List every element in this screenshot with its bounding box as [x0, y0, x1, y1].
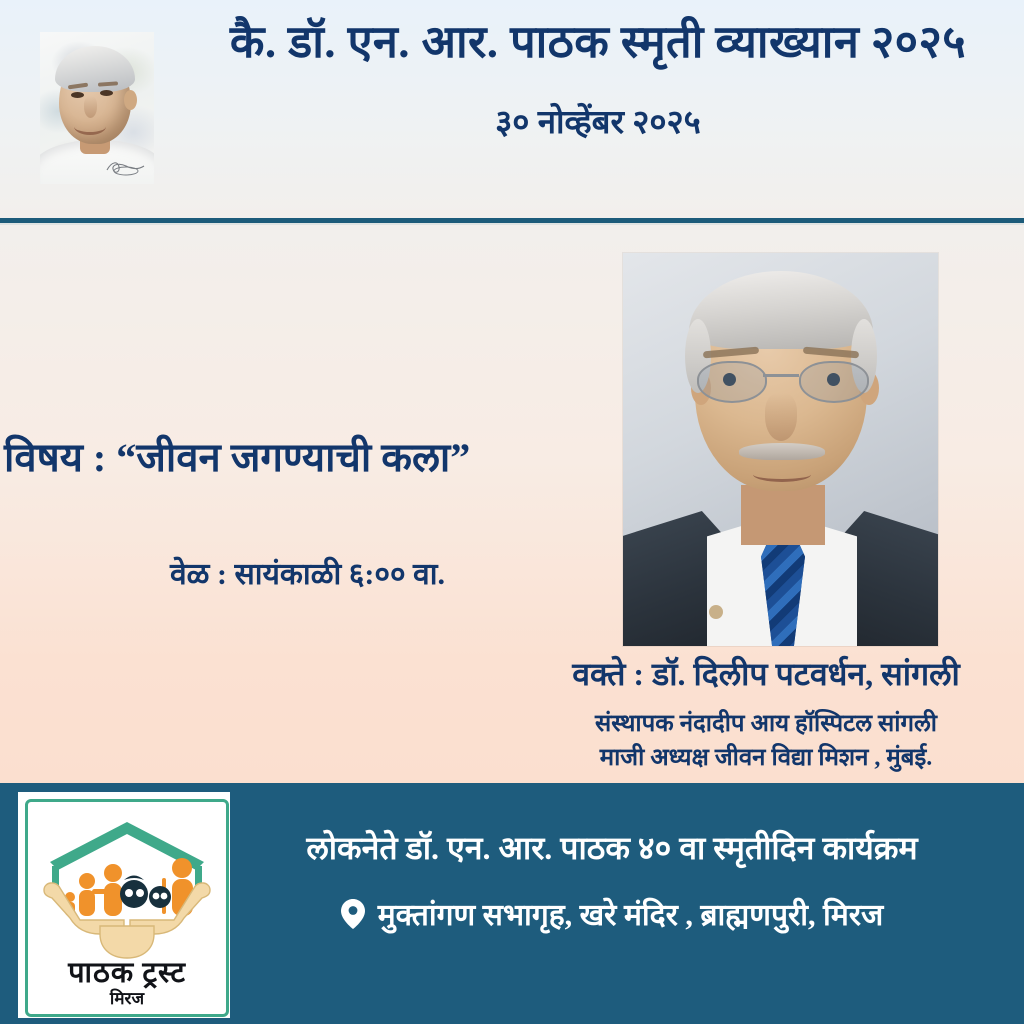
speaker-moustache — [739, 443, 825, 460]
trust-logo-frame: पाठक ट्रस्ट मिरज — [25, 799, 229, 1017]
portrait-eye-right — [100, 90, 113, 96]
poster-header: कै. डॉ. एन. आर. पाठक स्मृती व्याख्यान २०… — [0, 0, 1024, 218]
cupped-hands-icon — [40, 876, 214, 960]
artist-signature-icon — [104, 157, 148, 177]
lecture-time: वेळ : सायंकाळी ६:०० वा. — [0, 552, 615, 593]
lecture-subject: विषय : “जीवन जगण्याची कला” — [0, 428, 615, 483]
header-title-group: कै. डॉ. एन. आर. पाठक स्मृती व्याख्यान २०… — [172, 0, 1024, 218]
eyeglass-bridge — [763, 374, 799, 377]
poster-date: ३० नोव्हेंबर २०२५ — [495, 104, 701, 144]
trust-logo: पाठक ट्रस्ट मिरज — [18, 792, 230, 1018]
portrait-nose — [84, 96, 97, 118]
speaker-nose — [765, 393, 797, 441]
trust-logo-place: मिरज — [28, 986, 226, 1009]
venue-row: मुक्तांगण सभागृह, खरे मंदिर , ब्राह्मणपु… — [232, 893, 992, 934]
portrait-ear — [124, 90, 137, 110]
eyeglass-lens-left — [697, 361, 767, 403]
event-title: लोकनेते डॉ. एन. आर. पाठक ४० वा स्मृतीदिन… — [232, 826, 992, 869]
speaker-credential-2: माजी अध्यक्ष जीवन विद्या मिशन , मुंबई. — [508, 740, 1024, 773]
eyeglass-lens-right — [799, 361, 869, 403]
speaker-mouth — [753, 467, 811, 482]
speaker-credential-1: संस्थापक नंदादीप आय हॉस्पिटल सांगली — [508, 706, 1024, 739]
poster-root: कै. डॉ. एन. आर. पाठक स्मृती व्याख्यान २०… — [0, 0, 1024, 1024]
poster-title: कै. डॉ. एन. आर. पाठक स्मृती व्याख्यान २०… — [230, 14, 966, 70]
venue-text: मुक्तांगण सभागृह, खरे मंदिर , ब्राह्मणपु… — [378, 893, 884, 934]
speaker-photo — [623, 253, 938, 646]
speaker-name: वक्ते : डॉ. दिलीप पटवर्धन, सांगली — [508, 652, 1024, 695]
location-pin-icon — [341, 899, 365, 929]
memorial-portrait — [40, 32, 154, 184]
speaker-lapel-pin — [709, 605, 723, 619]
portrait-eye-left — [71, 92, 84, 98]
portrait-smile — [74, 118, 106, 135]
speaker-neck — [741, 485, 825, 545]
